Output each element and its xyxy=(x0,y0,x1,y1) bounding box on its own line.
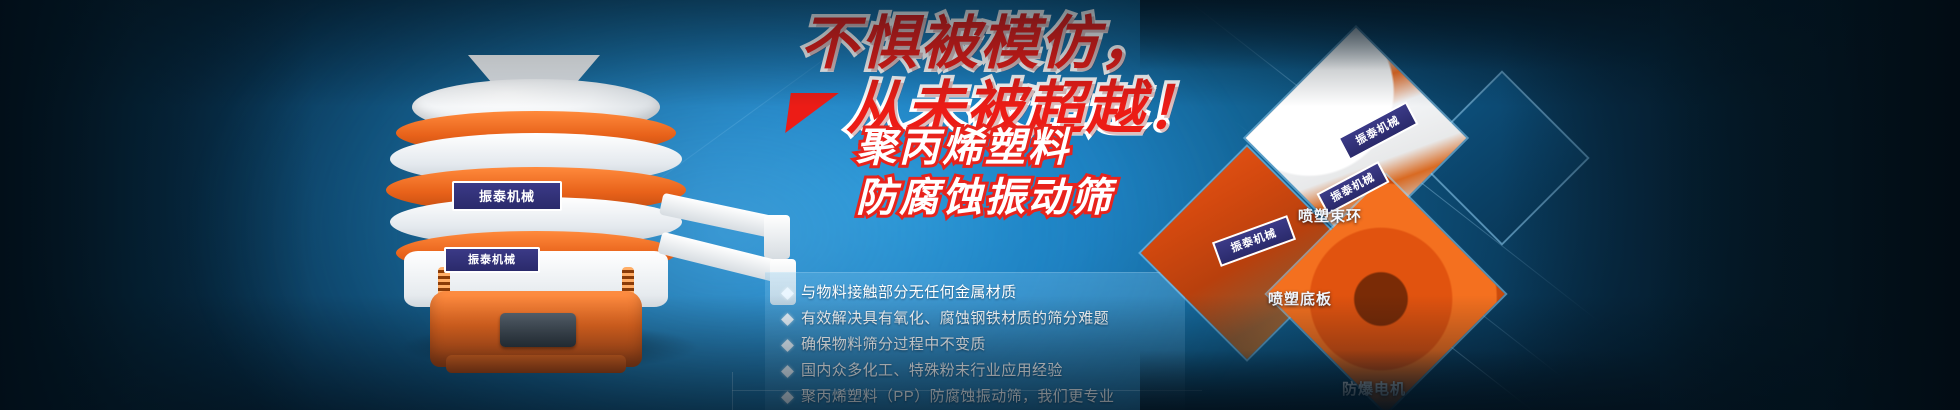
promo-banner: 振泰机械 振泰机械 不惧被模仿， 从未被超越！ 聚丙烯塑料 防腐蚀振动筛 与物料… xyxy=(0,0,1960,410)
background-vignette xyxy=(0,0,1960,410)
